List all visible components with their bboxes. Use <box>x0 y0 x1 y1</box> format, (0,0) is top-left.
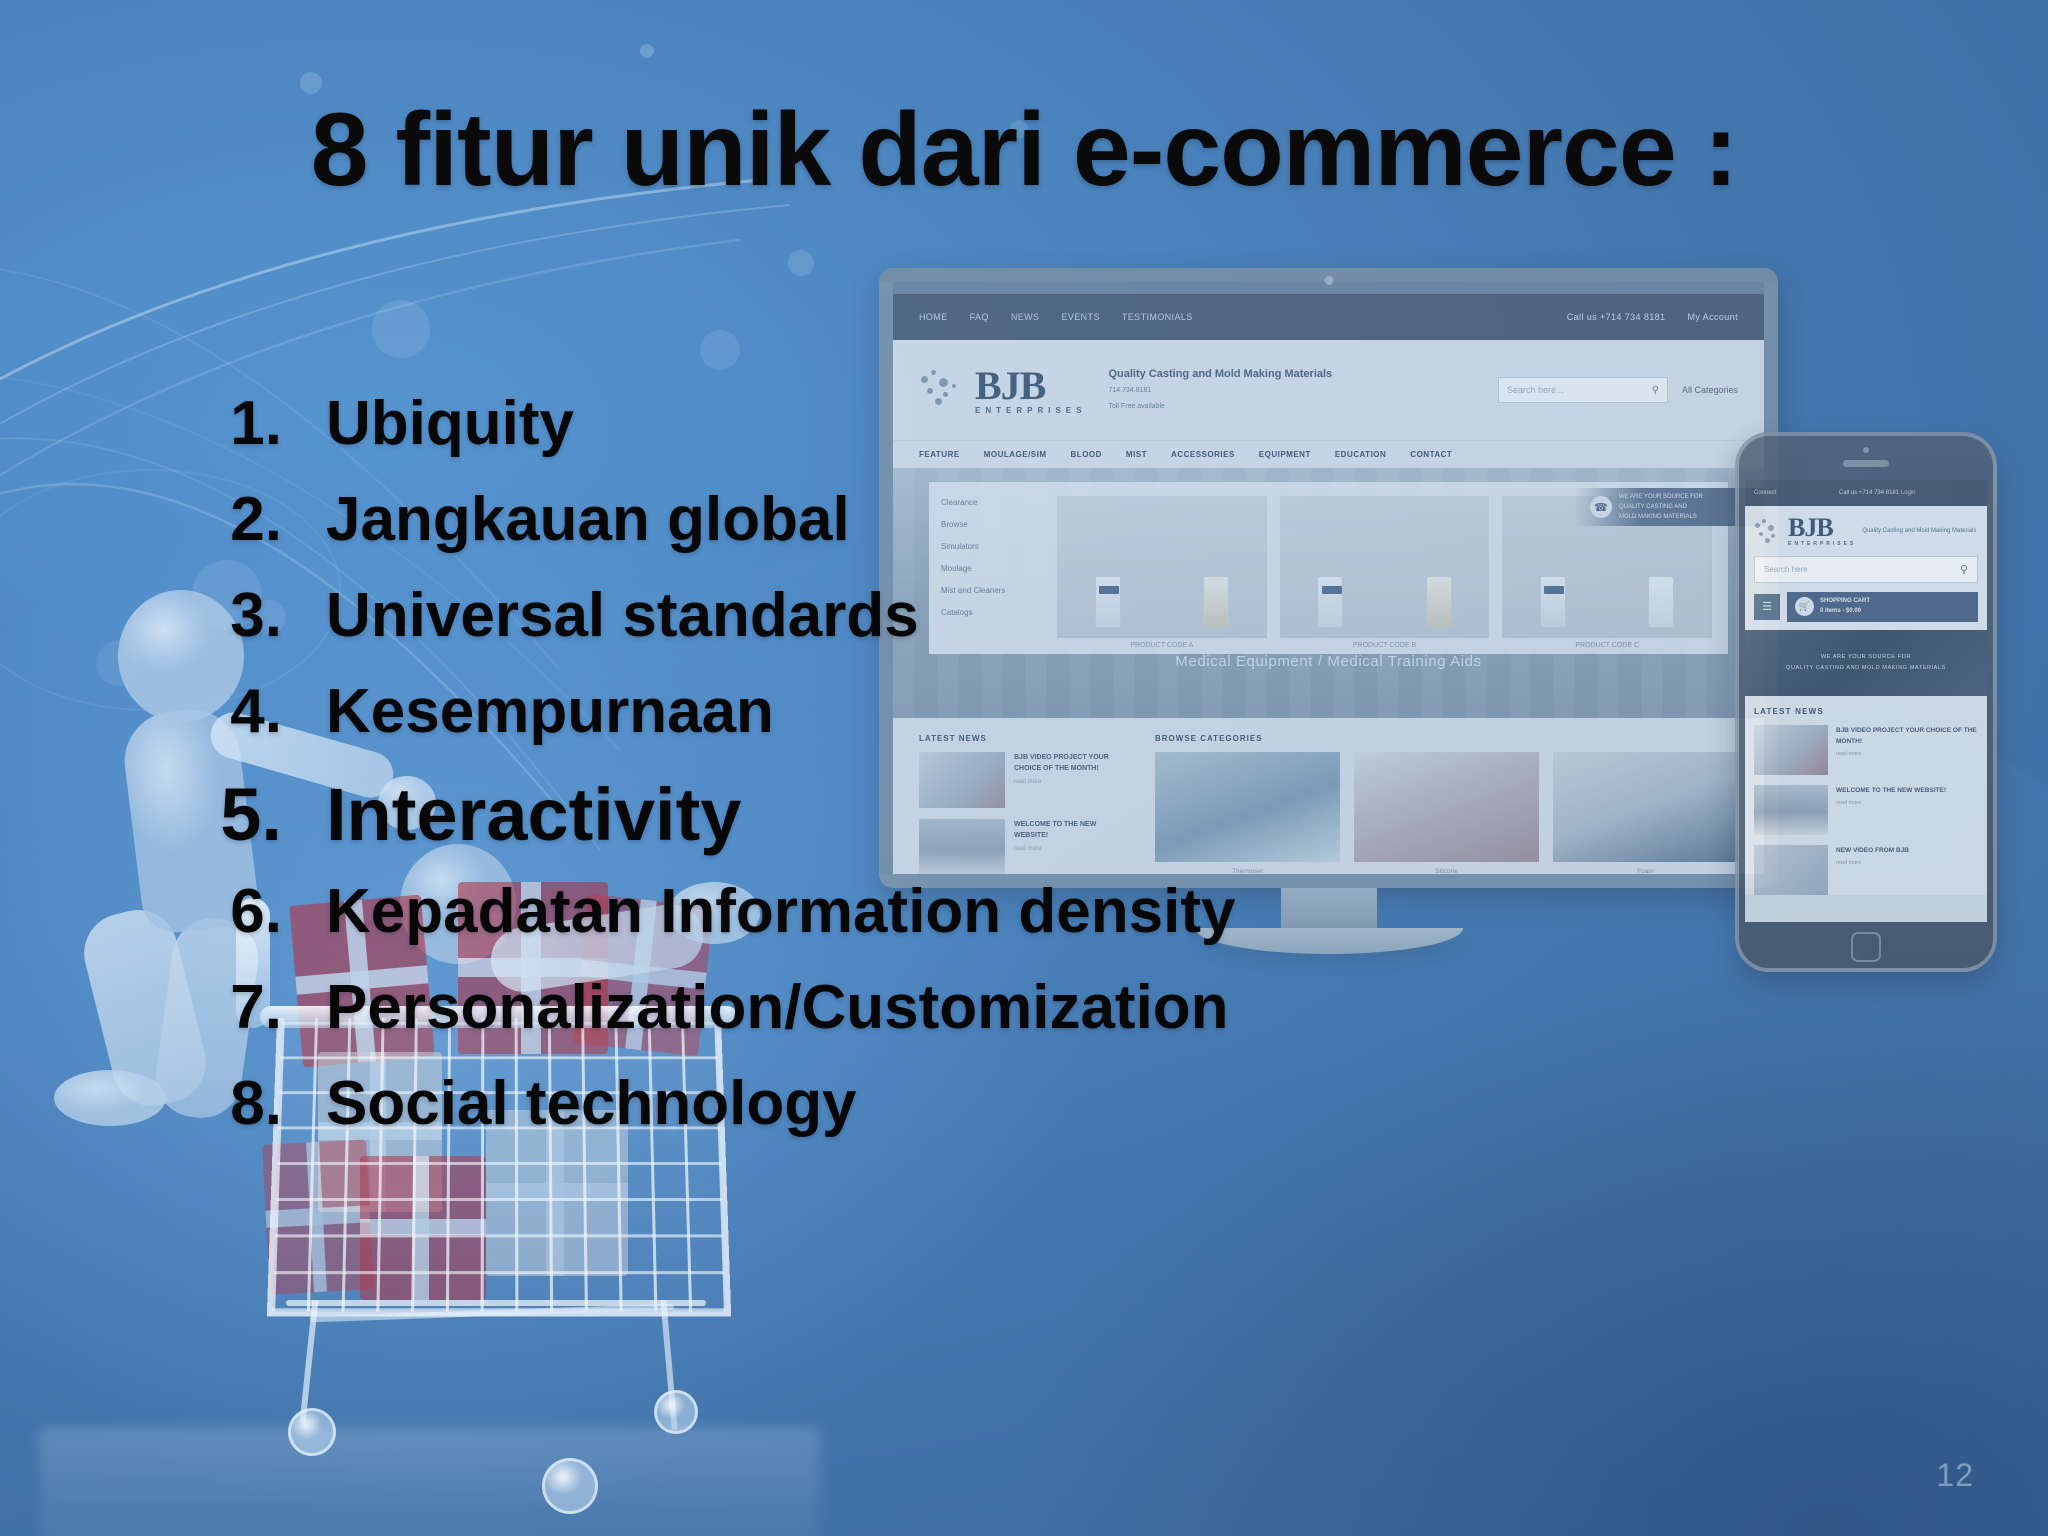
hero-badge-line-2: QUALITY CASTING AND <box>1619 502 1703 512</box>
list-item-number: 8. <box>218 1068 326 1139</box>
gift-box <box>360 1156 486 1300</box>
category-card[interactable]: Foam <box>1553 752 1738 874</box>
bokeh-bubble <box>300 72 322 94</box>
search-category-select[interactable]: All Categories <box>1682 385 1738 395</box>
slide-page-number: 12 <box>1936 1457 1974 1494</box>
list-item-label: Interactivity <box>326 772 741 857</box>
phone-menu-button[interactable]: ☰ <box>1754 594 1780 620</box>
phone-news-item[interactable]: NEW VIDEO FROM BJB read more <box>1754 845 1978 895</box>
bokeh-bubble <box>640 44 654 58</box>
smartphone-mockup: Connect Call us +714 734 8181 Login <box>1735 432 1997 972</box>
floor-reflection <box>40 1428 820 1536</box>
phone-logo-bjb-text: BJB <box>1788 516 1856 541</box>
product-caption: PRODUCT CODE C <box>1502 638 1712 654</box>
phone-topbar-connect-link[interactable]: Connect <box>1754 490 1776 496</box>
phone-search-placeholder: Search here <box>1764 565 1808 574</box>
phone-topbar-phone-number[interactable]: Call us +714 734 8181 <box>1839 490 1899 496</box>
news-thumbnail <box>1754 725 1828 775</box>
cart-leg <box>300 1300 319 1422</box>
news-thumbnail <box>1754 845 1828 895</box>
search-icon[interactable]: ⚲ <box>1960 563 1968 576</box>
category-image <box>1553 752 1738 862</box>
list-item-label: Jangkauan global <box>326 484 850 555</box>
phone-home-button[interactable] <box>1851 932 1881 962</box>
list-item: 1. Ubiquity <box>218 388 1398 484</box>
list-item: 8. Social technology <box>218 1068 1398 1164</box>
search-input[interactable]: Search here... ⚲ <box>1498 377 1668 403</box>
news-thumbnail <box>1754 785 1828 835</box>
list-item-number: 6. <box>218 876 326 947</box>
cart-wheel <box>288 1408 336 1456</box>
list-item-label: Universal standards <box>326 580 919 651</box>
topbar-link-home[interactable]: HOME <box>919 312 948 322</box>
phone-screen: Connect Call us +714 734 8181 Login <box>1745 480 1987 922</box>
list-item: 4. Kesempurnaan <box>218 676 1398 772</box>
phone-promo-banner: WE ARE YOUR SOURCE FOR QUALITY CASTING A… <box>1745 630 1987 696</box>
bokeh-bubble <box>788 250 814 276</box>
category-label: Foam <box>1553 862 1738 874</box>
shopping-cart-icon: 🛒 <box>1795 597 1814 616</box>
mannequin-foot <box>54 1070 166 1126</box>
phone-logo-sub-text: ENTERPRISES <box>1788 541 1856 547</box>
phone-latest-news-section: LATEST NEWS BJB VIDEO PROJECT YOUR CHOIC… <box>1745 696 1987 895</box>
phone-cart-line-1: SHOPPING CART <box>1820 597 1870 607</box>
presentation-slide: HOME FAQ NEWS EVENTS TESTIMONIALS Call u… <box>0 0 2048 1536</box>
list-item-label: Personalization/Customization <box>326 972 1229 1043</box>
site-top-utility-bar: HOME FAQ NEWS EVENTS TESTIMONIALS Call u… <box>893 294 1764 340</box>
list-item: 6. Kepadatan Information density <box>218 876 1398 972</box>
hero-badge-line-1: WE ARE YOUR SOURCE FOR <box>1619 492 1703 502</box>
phone-speaker-grille <box>1843 460 1889 467</box>
brand-tagline: Quality Casting and Mold Making Material… <box>1108 368 1332 380</box>
bokeh-bubble <box>372 300 430 358</box>
list-item-number: 7. <box>218 972 326 1043</box>
page-title: 8 fitur unik dari e-commerce : <box>0 98 2048 202</box>
search-icon[interactable]: ⚲ <box>1652 385 1659 396</box>
phone-banner-line-1: WE ARE YOUR SOURCE FOR <box>1821 654 1911 660</box>
phone-news-item[interactable]: BJB VIDEO PROJECT YOUR CHOICE OF THE MON… <box>1754 725 1978 775</box>
phone-brand-tagline: Quality Casting and Mold Making Material… <box>1862 527 1976 537</box>
list-item-label: Social technology <box>326 1068 857 1139</box>
list-item: 2. Jangkauan global <box>218 484 1398 580</box>
list-item-number: 1. <box>218 388 326 459</box>
bokeh-bubble <box>700 330 740 370</box>
cart-wheel <box>654 1390 698 1434</box>
feature-list: 1. Ubiquity 2. Jangkauan global 3. Unive… <box>218 388 1398 1164</box>
phone-camera-icon <box>1863 447 1869 453</box>
news-headline: WELCOME TO THE NEW WEBSITE! <box>1836 785 1978 796</box>
phone-topbar-login-link[interactable]: Login <box>1901 490 1916 496</box>
phone-search-input[interactable]: Search here ⚲ <box>1754 556 1978 583</box>
bokeh-bubble <box>96 640 142 686</box>
news-read-more-link[interactable]: read more <box>1836 751 1978 757</box>
hero-badge-line-3: MOLD MAKING MATERIALS <box>1619 512 1703 522</box>
news-read-more-link[interactable]: read more <box>1836 800 1978 806</box>
phone-site-logo[interactable]: BJB ENTERPRISES Quality Casting and Mold… <box>1754 516 1978 547</box>
phone-site-header: BJB ENTERPRISES Quality Casting and Mold… <box>1745 506 1987 630</box>
search-placeholder-text: Search here... <box>1507 385 1564 395</box>
topbar-my-account-link[interactable]: My Account <box>1687 312 1738 322</box>
topbar-link-news[interactable]: NEWS <box>1011 312 1040 322</box>
phone-site-topbar: Connect Call us +714 734 8181 Login <box>1745 480 1987 506</box>
topbar-link-testimonials[interactable]: TESTIMONIALS <box>1122 312 1193 322</box>
topbar-link-events[interactable]: EVENTS <box>1061 312 1099 322</box>
phone-shopping-cart-button[interactable]: 🛒 SHOPPING CART 0 items - $0.00 <box>1787 592 1978 622</box>
list-item: 3. Universal standards <box>218 580 1398 676</box>
list-item-label: Kepadatan Information density <box>326 876 1235 947</box>
phone-news-item[interactable]: WELCOME TO THE NEW WEBSITE! read more <box>1754 785 1978 835</box>
list-item-label: Ubiquity <box>326 388 574 459</box>
topbar-link-faq[interactable]: FAQ <box>970 312 989 322</box>
list-item-number: 2. <box>218 484 326 555</box>
list-item-number: 5. <box>218 772 326 857</box>
list-item-number: 3. <box>218 580 326 651</box>
phone-icon: ☎ <box>1590 496 1612 518</box>
logo-dots-icon <box>1754 518 1782 544</box>
list-item-number: 4. <box>218 676 326 747</box>
phone-cart-line-2: 0 items - $0.00 <box>1820 607 1870 617</box>
news-read-more-link[interactable]: read more <box>1836 860 1978 866</box>
list-item: 5. Interactivity <box>218 772 1398 876</box>
phone-cart-row: ☰ 🛒 SHOPPING CART 0 items - $0.00 <box>1754 592 1978 622</box>
phone-latest-news-heading: LATEST NEWS <box>1754 707 1978 716</box>
cart-wheel <box>542 1458 598 1514</box>
list-item: 7. Personalization/Customization <box>218 972 1398 1068</box>
monitor-webcam-icon <box>1324 276 1333 285</box>
list-item-label: Kesempurnaan <box>326 676 774 747</box>
news-headline: BJB VIDEO PROJECT YOUR CHOICE OF THE MON… <box>1836 725 1978 748</box>
nav-item-contact[interactable]: CONTACT <box>1410 450 1452 459</box>
phone-banner-line-2: QUALITY CASTING AND MOLD MAKING MATERIAL… <box>1786 665 1946 671</box>
news-headline: NEW VIDEO FROM BJB <box>1836 845 1978 856</box>
cart-frame-bar <box>286 1300 706 1306</box>
cart-leg <box>660 1300 677 1430</box>
phone-topbar-center: Call us +714 734 8181 Login <box>1776 490 1978 496</box>
topbar-phone-number[interactable]: Call us +714 734 8181 <box>1567 312 1666 322</box>
cart-frame-bar <box>310 1304 674 1323</box>
mannequin-leg-left <box>76 902 215 1115</box>
